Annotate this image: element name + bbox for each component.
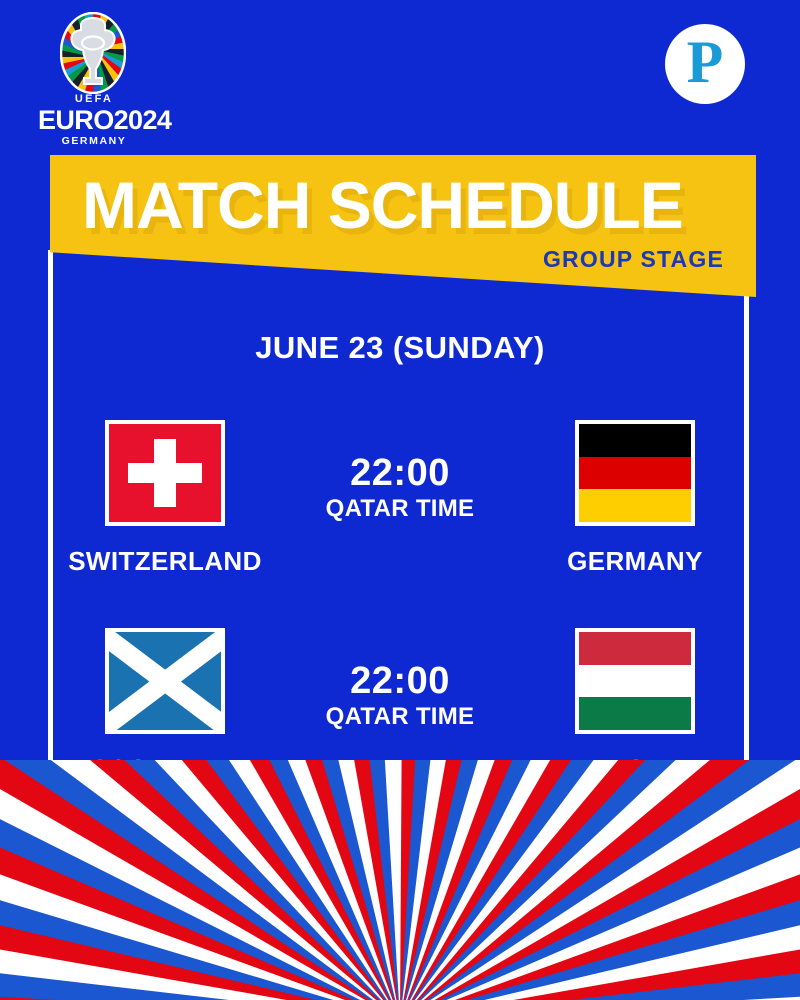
bottom-stripe-decoration: [0, 760, 800, 1000]
euro-2024-logo: UEFA EURO2024 GERMANY: [38, 10, 150, 140]
team-name: SWITZERLAND: [68, 546, 262, 577]
uefa-label: UEFA: [38, 94, 150, 105]
flag-hungary-icon: [575, 628, 695, 734]
date-row: JUNE 23 (SUNDAY): [0, 330, 800, 366]
host-country-label: GERMANY: [38, 135, 150, 147]
match-row: SWITZERLAND 22:00 QATAR TIME GERMANY: [50, 420, 750, 590]
team-name: GERMANY: [567, 546, 703, 577]
match-kickoff: 22:00 QATAR TIME: [280, 628, 520, 731]
flag-scotland-icon: [105, 628, 225, 734]
flag-germany-icon: [575, 420, 695, 526]
date-heading: JUNE 23 (SUNDAY): [255, 330, 545, 366]
home-team-switzerland: SWITZERLAND: [50, 420, 280, 577]
kickoff-timezone: QATAR TIME: [326, 703, 475, 731]
poster-canvas: UEFA EURO2024 GERMANY P MATCH SCHEDULE G…: [0, 0, 800, 1000]
banner-subtitle: GROUP STAGE: [543, 247, 724, 271]
title-banner: MATCH SCHEDULE GROUP STAGE: [50, 155, 756, 297]
euro-2024-wordmark: UEFA EURO2024 GERMANY: [38, 94, 150, 147]
page-title: MATCH SCHEDULE: [82, 169, 683, 241]
kickoff-time: 22:00: [350, 452, 450, 494]
publisher-logo-letter: P: [687, 32, 724, 92]
flag-switzerland-icon: [105, 420, 225, 526]
away-team-germany: GERMANY: [520, 420, 750, 577]
stripe-fan-graphic: [0, 760, 800, 1000]
euro-wordmark-text: EURO2024: [38, 106, 150, 134]
uefa-trophy-icon: [60, 12, 126, 94]
match-kickoff: 22:00 QATAR TIME: [280, 420, 520, 523]
kickoff-time: 22:00: [350, 660, 450, 702]
kickoff-timezone: QATAR TIME: [326, 495, 475, 523]
publisher-logo[interactable]: P: [665, 24, 745, 104]
